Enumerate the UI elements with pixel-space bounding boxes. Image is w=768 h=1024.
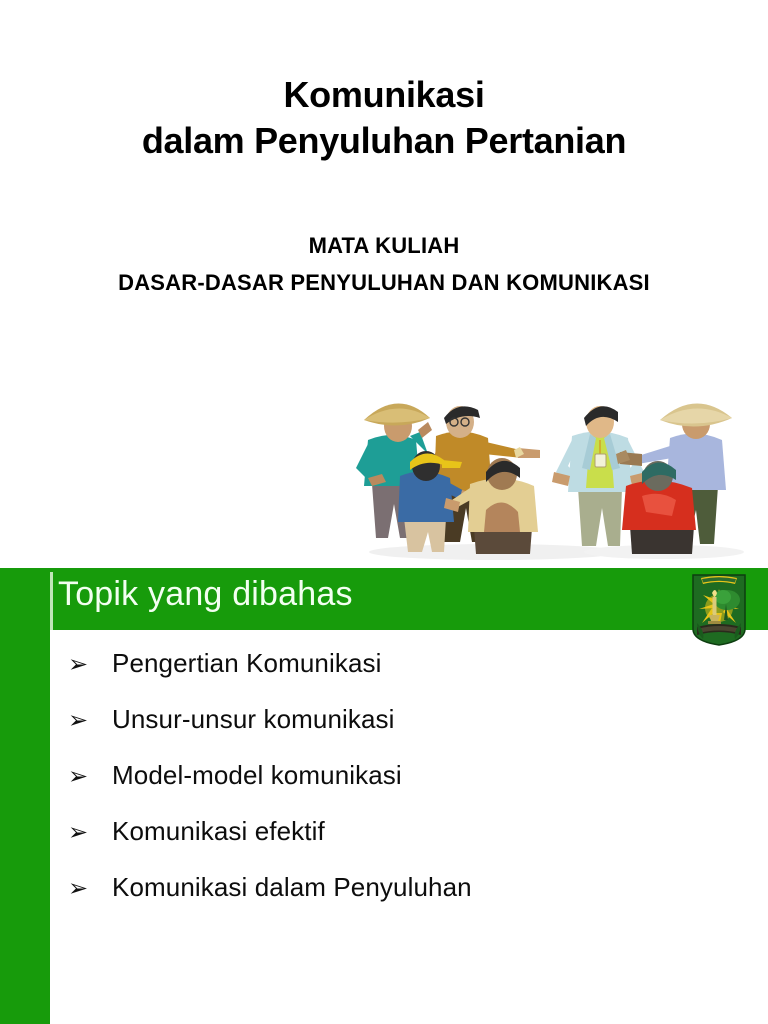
list-item: ➢ Komunikasi efektif: [68, 818, 708, 874]
list-item-label: Model-model komunikasi: [112, 762, 402, 788]
arrow-bullet-icon: ➢: [68, 820, 112, 844]
list-item-label: Unsur-unsur komunikasi: [112, 706, 395, 732]
list-item: ➢ Unsur-unsur komunikasi: [68, 706, 708, 762]
arrow-bullet-icon: ➢: [68, 708, 112, 732]
topics-list: ➢ Pengertian Komunikasi ➢ Unsur-unsur ko…: [68, 650, 708, 930]
left-accent-bar: [0, 568, 50, 1024]
arrow-bullet-icon: ➢: [68, 652, 112, 676]
arrow-bullet-icon: ➢: [68, 764, 112, 788]
title-line-2: dalam Penyuluhan Pertanian: [0, 118, 768, 164]
section-heading: Topik yang dibahas: [58, 575, 353, 614]
subtitle-line-1: MATA KULIAH: [0, 228, 768, 265]
title-line-1: Komunikasi: [283, 74, 484, 115]
institution-emblem-icon: [691, 573, 747, 647]
list-item-label: Pengertian Komunikasi: [112, 650, 381, 676]
list-item: ➢ Model-model komunikasi: [68, 762, 708, 818]
course-subtitle: MATA KULIAH DASAR-DASAR PENYULUHAN DAN K…: [0, 228, 768, 302]
header-divider: [50, 572, 53, 630]
page-title: Komunikasi dalam Penyuluhan Pertanian: [0, 0, 768, 164]
arrow-bullet-icon: ➢: [68, 876, 112, 900]
list-item-label: Komunikasi efektif: [112, 818, 325, 844]
subtitle-line-2: DASAR-DASAR PENYULUHAN DAN KOMUNIKASI: [0, 265, 768, 302]
list-item: ➢ Pengertian Komunikasi: [68, 650, 708, 706]
group-discussion-illustration: [334, 392, 754, 564]
title-block: Komunikasi dalam Penyuluhan Pertanian MA…: [0, 0, 768, 302]
list-item: ➢ Komunikasi dalam Penyuluhan: [68, 874, 708, 930]
list-item-label: Komunikasi dalam Penyuluhan: [112, 874, 472, 900]
